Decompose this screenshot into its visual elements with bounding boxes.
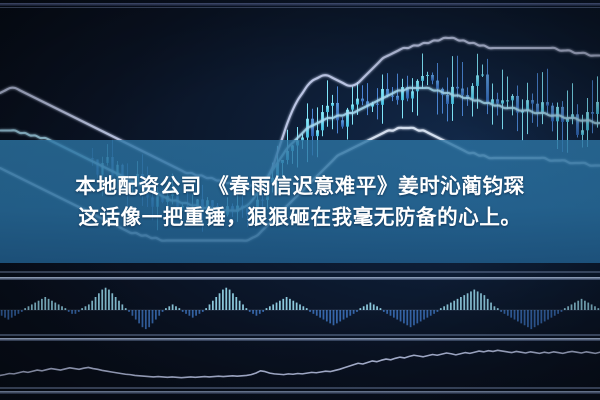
macd-histogram-panel bbox=[0, 280, 600, 336]
indicator-line-series bbox=[0, 350, 600, 377]
caption-overlay-band: 本地配资公司 《春雨信迟意难平》姜时沁蔺钧琛 这话像一把重锤，狠狠砸在我毫无防备… bbox=[0, 140, 600, 263]
macd-bar-series bbox=[0, 288, 600, 329]
caption-line-2: 这话像一把重锤，狠狠砸在我毫无防备的心上。 bbox=[78, 205, 521, 230]
stock-chart-banner: 本地配资公司 《春雨信迟意难平》姜时沁蔺钧琛 这话像一把重锤，狠狠砸在我毫无防备… bbox=[0, 0, 600, 400]
caption-line-1: 本地配资公司 《春雨信迟意难平》姜时沁蔺钧琛 bbox=[75, 174, 524, 199]
indicator-line-panel bbox=[0, 340, 600, 388]
